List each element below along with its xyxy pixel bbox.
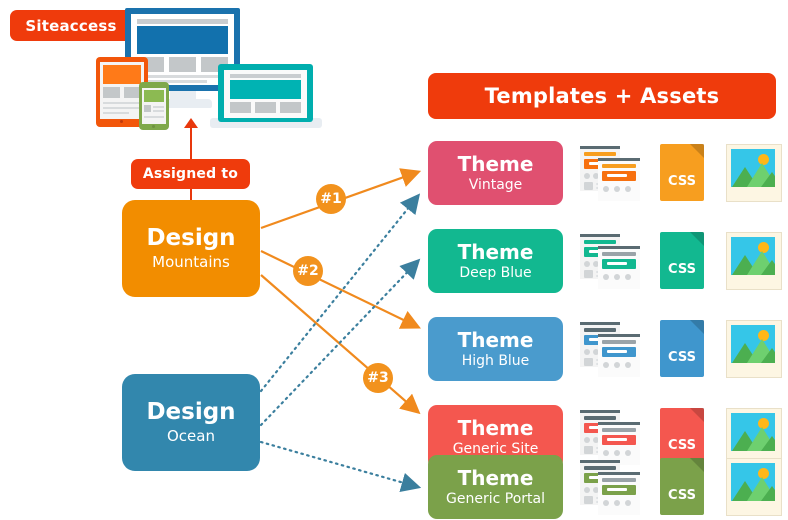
connector-mountains-to-high-blue: [261, 251, 418, 327]
connector-ocean-to-vintage: [261, 196, 418, 391]
design-subtitle: Ocean: [167, 427, 215, 445]
design-title: Design: [146, 226, 235, 250]
theme-subtitle: Deep Blue: [459, 265, 531, 281]
theme-subtitle: Vintage: [469, 177, 523, 193]
devices-illustration: [90, 4, 330, 134]
css-file-icon: CSS: [660, 144, 704, 201]
monitor-tile: [169, 57, 196, 72]
template-windows-icon: [580, 322, 642, 376]
template-windows-icon: [580, 146, 642, 200]
photo-thumbnail-icon: [726, 458, 782, 516]
design-box-mountains[interactable]: Design Mountains: [122, 200, 260, 297]
templates-assets-header: Templates + Assets: [428, 73, 776, 119]
phone-home-button-icon: [152, 125, 155, 128]
diagram-canvas: Siteaccess: [0, 0, 788, 520]
connector-badge-1: #1: [316, 184, 346, 214]
theme-row: Theme High Blue: [428, 317, 778, 381]
theme-row: Theme Generic Portal: [428, 455, 778, 519]
theme-card-generic-portal[interactable]: Theme Generic Portal: [428, 455, 563, 519]
theme-card-high-blue[interactable]: Theme High Blue: [428, 317, 563, 381]
photo-thumbnail-icon: [726, 232, 782, 290]
css-file-label: CSS: [660, 174, 704, 189]
monitor-hero-block: [137, 26, 228, 54]
theme-title: Theme: [458, 242, 534, 262]
laptop-tile: [280, 102, 301, 113]
design-box-ocean[interactable]: Design Ocean: [122, 374, 260, 471]
phone-text-line: [153, 106, 164, 108]
css-file-label: CSS: [660, 488, 704, 503]
laptop-hero-block: [230, 80, 301, 99]
monitor-text-line: [137, 75, 228, 78]
photo-thumbnail-icon: [726, 320, 782, 378]
css-file-label: CSS: [660, 438, 704, 453]
template-windows-icon: [580, 234, 642, 288]
tablet-home-button-icon: [120, 120, 123, 123]
connector-ocean-to-generic-portal: [261, 442, 418, 487]
phone-text-line: [153, 110, 164, 112]
laptop-topbar: [230, 74, 301, 78]
theme-title: Theme: [458, 330, 534, 350]
assigned-to-badge: Assigned to: [131, 159, 250, 189]
phone-hero-block: [144, 90, 164, 102]
theme-subtitle: High Blue: [462, 353, 530, 369]
phone-text-line: [144, 116, 164, 118]
tablet-hero-block: [103, 65, 141, 84]
theme-card-deep-blue[interactable]: Theme Deep Blue: [428, 229, 563, 293]
design-subtitle: Mountains: [152, 253, 230, 271]
css-file-icon: CSS: [660, 232, 704, 289]
laptop-tile: [230, 102, 251, 113]
photo-thumbnail-icon: [726, 144, 782, 202]
theme-title: Theme: [458, 468, 534, 488]
template-windows-icon: [580, 460, 642, 514]
theme-title: Theme: [458, 154, 534, 174]
css-file-icon: CSS: [660, 320, 704, 377]
connector-badge-2: #2: [293, 256, 323, 286]
theme-card-vintage[interactable]: Theme Vintage: [428, 141, 563, 205]
monitor-topbar: [137, 19, 228, 24]
connector-badge-3: #3: [363, 363, 393, 393]
connector-ocean-to-deep-blue: [261, 261, 418, 425]
laptop-tile: [255, 102, 276, 113]
css-file-label: CSS: [660, 350, 704, 365]
theme-row: Theme Vintage: [428, 141, 778, 205]
tablet-text-line: [103, 107, 141, 109]
tablet-text-line: [103, 102, 141, 104]
tablet-text-line: [103, 112, 129, 114]
tablet-tile: [103, 87, 120, 98]
design-title: Design: [146, 400, 235, 424]
phone-tile: [144, 105, 151, 112]
theme-subtitle: Generic Portal: [446, 491, 545, 507]
theme-row: Theme Deep Blue: [428, 229, 778, 293]
css-file-label: CSS: [660, 262, 704, 277]
css-file-icon: CSS: [660, 458, 704, 515]
monitor-neck-icon: [170, 91, 196, 103]
theme-title: Theme: [458, 418, 534, 438]
